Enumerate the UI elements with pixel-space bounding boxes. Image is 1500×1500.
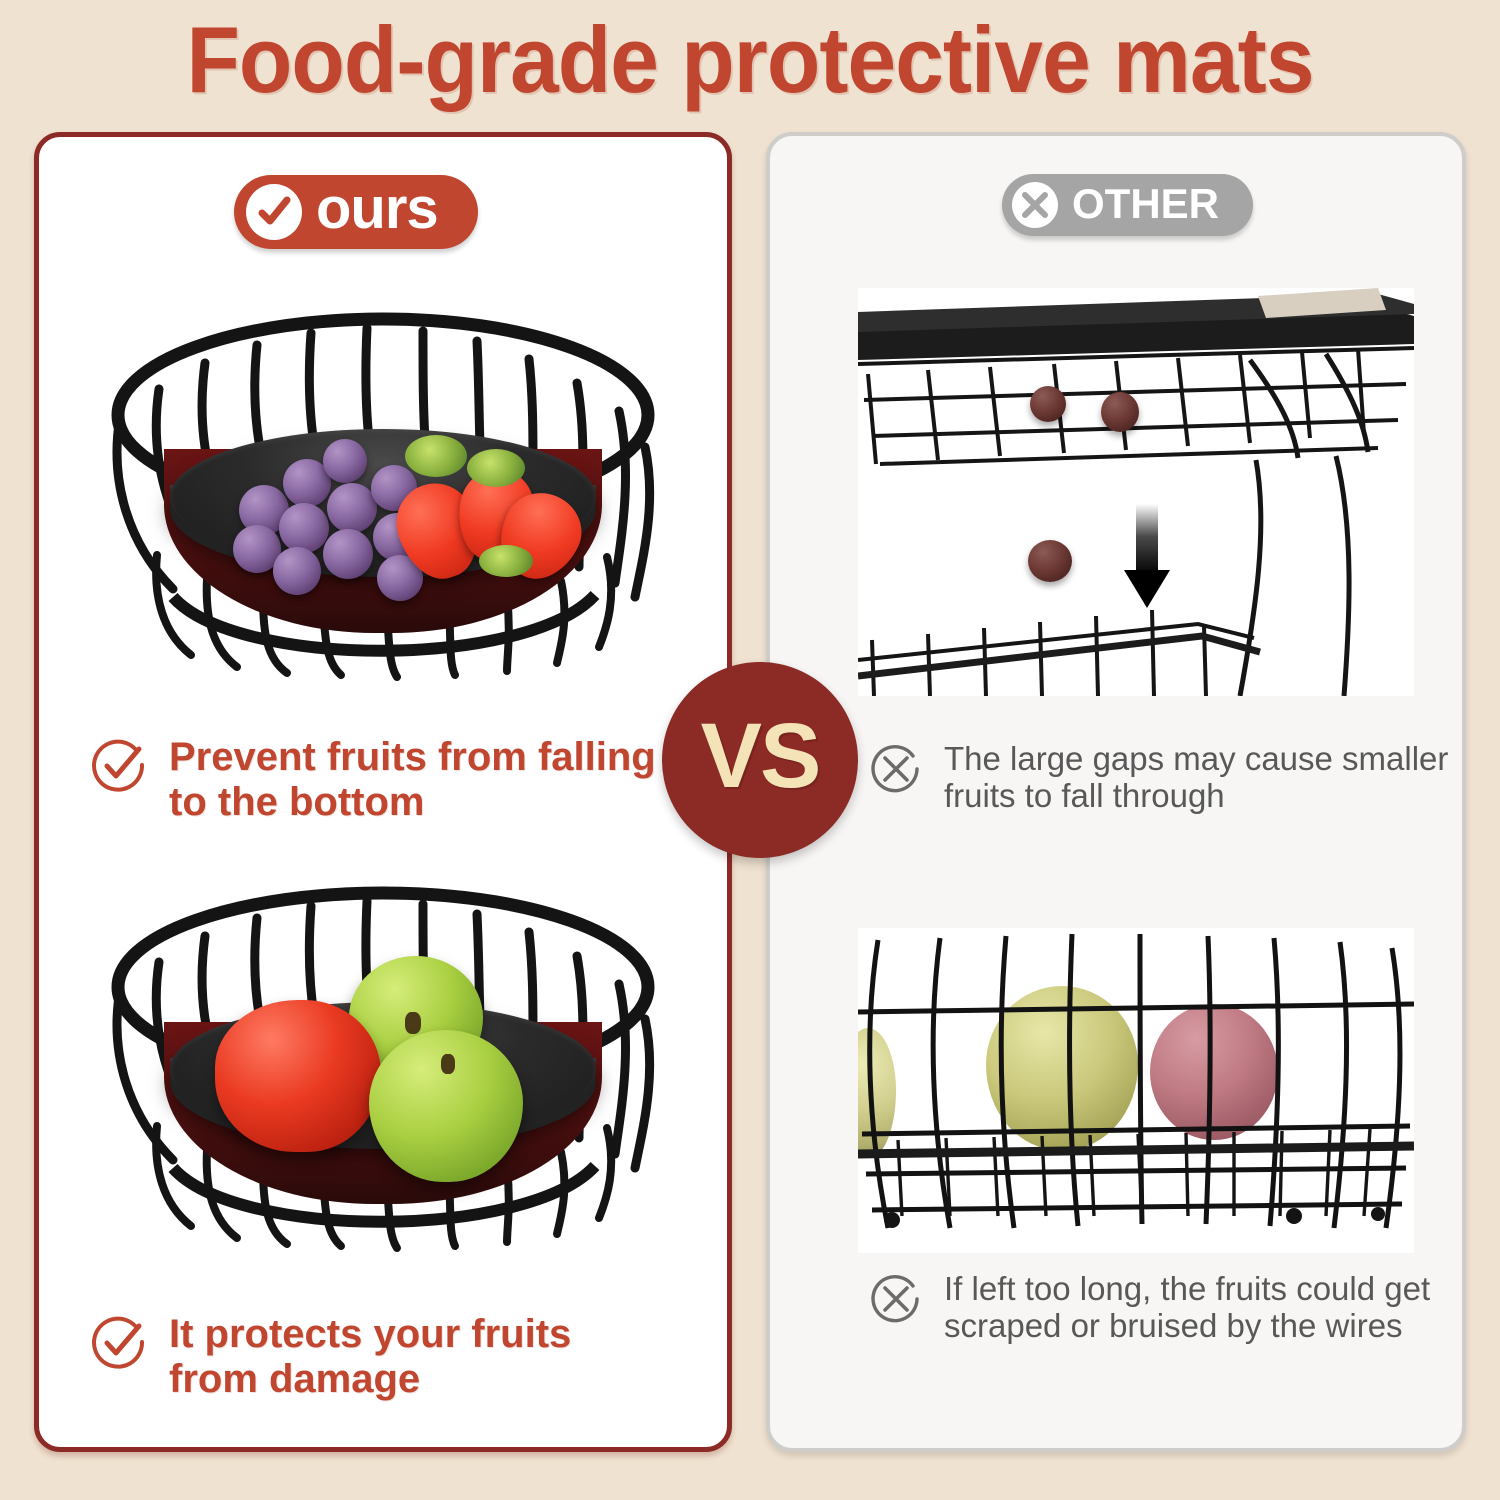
ours-feature-2-text: It protects your fruits from damage	[169, 1312, 571, 1402]
other-panel: OTHER	[766, 132, 1466, 1452]
other-badge: OTHER	[1002, 174, 1253, 236]
vs-label: VS	[701, 704, 820, 809]
x-circle-icon	[1012, 182, 1058, 228]
ours-badge: ours	[234, 175, 478, 249]
other-feature-1: The large gaps may cause smaller fruits …	[870, 741, 1448, 815]
vs-badge: VS	[662, 662, 858, 858]
ours-feature-1-text: Prevent fruits from falling to the botto…	[169, 735, 656, 825]
photo-basket-grapes-strawberries	[87, 297, 679, 697]
photo-rack-gaps-plum-falling	[858, 288, 1414, 696]
wire-basket-illustration	[87, 872, 679, 1267]
other-feature-1-text: The large gaps may cause smaller fruits …	[944, 741, 1448, 815]
check-circle-outline-icon	[91, 1314, 147, 1375]
plum-on-shelf	[1101, 392, 1139, 432]
other-badge-label: OTHER	[1072, 183, 1219, 225]
plum-falling	[1028, 540, 1072, 582]
ours-feature-1: Prevent fruits from falling to the botto…	[91, 735, 656, 825]
photo-basket-apples	[87, 872, 679, 1267]
check-circle-icon	[246, 184, 302, 240]
other-feature-2-text: If left too long, the fruits could get s…	[944, 1271, 1430, 1345]
down-arrow-icon	[1124, 504, 1170, 608]
check-circle-outline-icon	[91, 737, 147, 798]
page-title: Food-grade protective mats	[53, 6, 1448, 114]
photo-fruits-against-wires	[858, 928, 1414, 1253]
ours-badge-label: ours	[316, 180, 438, 238]
ours-panel: ours	[34, 132, 732, 1452]
x-circle-outline-icon	[870, 743, 922, 800]
other-feature-2: If left too long, the fruits could get s…	[870, 1271, 1430, 1345]
ours-feature-2: It protects your fruits from damage	[91, 1312, 571, 1402]
x-circle-outline-icon	[870, 1273, 922, 1330]
wire-basket-illustration	[87, 297, 679, 697]
plum-on-shelf	[1030, 386, 1066, 422]
